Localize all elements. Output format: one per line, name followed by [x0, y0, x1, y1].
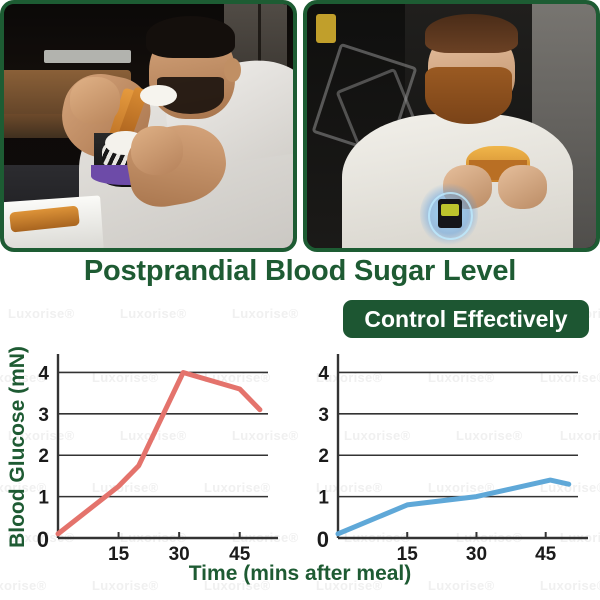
y-tick-label: 2 — [318, 446, 329, 467]
watermark-text: Luxorise® — [120, 306, 186, 321]
person-beard — [425, 67, 512, 123]
y-tick-label: 1 — [318, 488, 329, 509]
data-series-line — [58, 372, 260, 533]
page-title: Postprandial Blood Sugar Level — [0, 255, 600, 288]
line-chart-controlled: 12340153045 — [300, 330, 600, 600]
scene-yellow-sign — [316, 14, 336, 43]
photo-after-content — [307, 4, 596, 248]
photo-after-controlled — [303, 0, 600, 252]
x-axis-label: Time (mins after meal) — [0, 562, 600, 586]
person-left-hand — [70, 77, 119, 123]
chart-without-control: 12340153045 Blood Glucose (mN) — [0, 330, 300, 600]
chart-right-canvas: 12340153045 — [300, 330, 600, 600]
y-tick-label: 4 — [318, 363, 329, 384]
person-hair — [425, 14, 517, 53]
photo-before-uncontrolled — [0, 0, 297, 252]
person-hair — [146, 16, 236, 57]
watermark-text: Luxorise® — [8, 306, 74, 321]
person-right-hand — [498, 165, 547, 209]
y-tick-label: 3 — [318, 405, 329, 426]
chart-left-canvas: 12340153045 — [0, 330, 300, 600]
smartwatch-screen — [441, 204, 458, 216]
photo-strip — [0, 0, 600, 252]
watermark-text: Luxorise® — [232, 306, 298, 321]
infographic-page: Luxorise®Luxorise®Luxorise®Luxorise®Luxo… — [0, 0, 600, 600]
photo-before-content — [4, 4, 293, 248]
person-ear — [224, 58, 241, 82]
y-axis-label: Blood Glucose (mN) — [6, 337, 30, 557]
y-tick-label: 2 — [38, 446, 49, 467]
y-tick-label: 3 — [38, 405, 49, 426]
y-tick-label: 4 — [38, 363, 49, 384]
chart-with-control: 12340153045 — [300, 330, 600, 600]
y-tick-label-zero: 0 — [37, 527, 49, 552]
y-tick-label: 1 — [38, 488, 49, 509]
scene-shelf — [44, 50, 131, 62]
y-tick-label-zero: 0 — [317, 527, 329, 552]
line-chart-uncontrolled: 12340153045 — [0, 330, 300, 600]
person-right-hand — [131, 126, 183, 175]
data-series-line — [338, 480, 569, 534]
charts-area: 12340153045 Blood Glucose (mN) 123401530… — [0, 330, 600, 600]
